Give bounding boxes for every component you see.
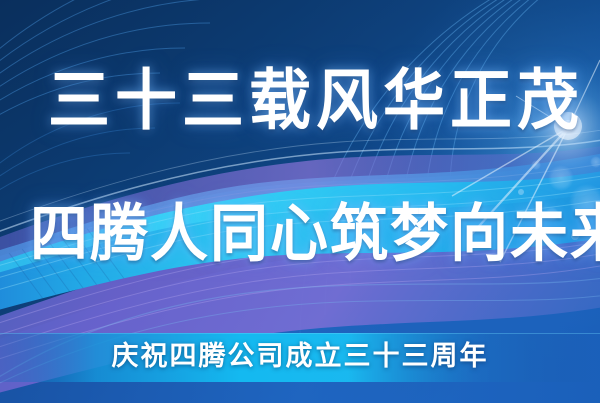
headline-line-2: 四腾人同心筑梦向未来 — [30, 202, 600, 265]
headline-line-1: 三十三载风华正茂 — [48, 68, 584, 134]
anniversary-banner: 三十三载风华正茂 四腾人同心筑梦向未来 庆祝四腾公司成立三十三周年 — [0, 0, 600, 403]
banner-text-layer: 三十三载风华正茂 四腾人同心筑梦向未来 庆祝四腾公司成立三十三周年 — [0, 0, 600, 403]
subtitle-text: 庆祝四腾公司成立三十三周年 — [0, 340, 600, 374]
